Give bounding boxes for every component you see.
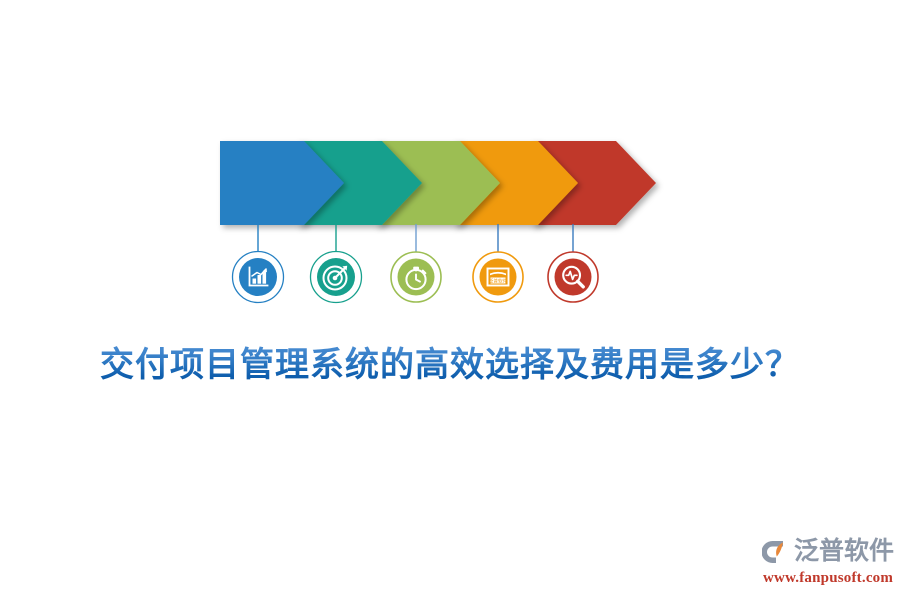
- svg-text:泛普软件: 泛普软件: [489, 277, 508, 284]
- page-title: 交付项目管理系统的高效选择及费用是多少？: [0, 344, 900, 388]
- watermark-top-row: 泛普软件: [762, 536, 892, 568]
- watermark-brand: 泛普软件: [794, 538, 894, 566]
- process-step-2[interactable]: [309, 250, 363, 304]
- process-step-3[interactable]: [389, 250, 443, 304]
- process-chevron-band: [220, 141, 660, 225]
- watermark-url: www.fanpusoft.com: [763, 569, 892, 587]
- watermark-logo: 泛普软件 www.fanpusoft.com: [762, 536, 892, 588]
- poster-canvas: 泛普软件 交付项目管理系统的高效选择及费用是多少？ 泛普软件 www.fanpu…: [0, 0, 900, 600]
- fanpu-logo-mark-icon: [762, 537, 792, 567]
- presentation-board-icon: [480, 259, 517, 296]
- process-step-1[interactable]: [231, 250, 285, 304]
- process-step-5[interactable]: [546, 250, 600, 304]
- process-icon-row: 泛普软件: [220, 250, 660, 312]
- process-step-4[interactable]: 泛普软件: [471, 250, 525, 304]
